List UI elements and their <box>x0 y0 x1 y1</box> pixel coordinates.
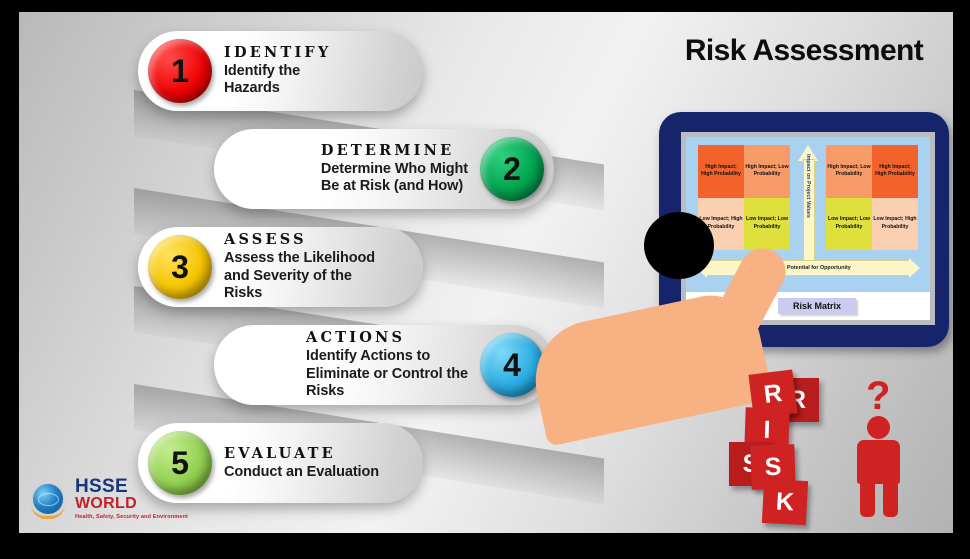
step-body-line: Identify the <box>224 63 331 81</box>
person-leg-right <box>883 479 898 517</box>
step-card-3[interactable]: 3 ASSESS Assess the Likelihood and Sever… <box>138 227 423 307</box>
step-number-3: 3 <box>171 249 189 286</box>
step-text-5: EVALUATE Conduct an Evaluation <box>212 445 391 481</box>
step-number-circle-4: 4 <box>480 333 544 397</box>
step-card-1[interactable]: 1 IDENTIFY Identify the Hazards <box>138 31 423 111</box>
step-number-circle-2: 2 <box>480 137 544 201</box>
step-heading-3: ASSESS <box>224 231 375 249</box>
infographic-frame: 1 IDENTIFY Identify the Hazards DETERMIN… <box>0 0 970 559</box>
matrix-cell: Low Impact; Low Probability <box>826 198 872 251</box>
step-body-line: Be at Risk (and How) <box>321 178 468 196</box>
cupped-hands-icon <box>31 504 65 519</box>
step-text-2: DETERMINE Determine Who Might Be at Risk… <box>309 142 480 196</box>
step-body-line: Risks <box>306 383 468 401</box>
risk-cubes-illustration: R R I S S K <box>745 370 823 510</box>
step-heading-2: DETERMINE <box>321 142 468 160</box>
step-text-3: ASSESS Assess the Likelihood and Severit… <box>212 231 387 303</box>
logo-tagline: Health, Safety, Security and Environment <box>75 515 188 521</box>
logo-line-hsse: HSSE <box>75 477 188 496</box>
step-number-circle-1: 1 <box>148 39 212 103</box>
step-heading-1: IDENTIFY <box>224 44 331 62</box>
matrix-cell: Low Impact; High Probability <box>872 198 918 251</box>
person-with-question-illustration: ? <box>851 378 907 500</box>
infographic-canvas: 1 IDENTIFY Identify the Hazards DETERMIN… <box>19 12 953 533</box>
step-text-4: ACTIONS Identify Actions to Eliminate or… <box>294 329 480 401</box>
step-card-4[interactable]: ACTIONS Identify Actions to Eliminate or… <box>214 325 554 405</box>
person-head <box>867 416 890 439</box>
step-body-4: Identify Actions to Eliminate or Control… <box>306 348 468 401</box>
question-mark-icon: ? <box>866 376 890 416</box>
step-body-line: and Severity of the <box>224 268 375 286</box>
step-card-2[interactable]: DETERMINE Determine Who Might Be at Risk… <box>214 129 554 209</box>
step-heading-5: EVALUATE <box>224 445 379 463</box>
matrix-cell: High Impact; High Probability <box>872 145 918 198</box>
step-body-1: Identify the Hazards <box>224 63 331 98</box>
step-body-line: Risks <box>224 285 375 303</box>
step-body-line: Determine Who Might <box>321 161 468 179</box>
step-text-1: IDENTIFY Identify the Hazards <box>212 44 343 98</box>
matrix-cell: High Impact; High Probability <box>698 145 744 198</box>
risk-cube: K <box>762 479 808 525</box>
step-body-5: Conduct an Evaluation <box>224 464 379 482</box>
step-body-3: Assess the Likelihood and Severity of th… <box>224 250 375 303</box>
step-body-line: Hazards <box>224 80 331 98</box>
step-number-5: 5 <box>171 445 189 482</box>
step-number-circle-3: 3 <box>148 235 212 299</box>
step-body-line: Eliminate or Control the <box>306 366 468 384</box>
hand-palm <box>525 286 774 446</box>
step-body-2: Determine Who Might Be at Risk (and How) <box>321 161 468 196</box>
step-body-line: Identify Actions to <box>306 348 468 366</box>
step-number-4: 4 <box>503 347 521 384</box>
vertical-axis-label: Impact on Project Values <box>805 154 811 218</box>
logo-text: HSSE WORLD Health, Safety, Security and … <box>75 477 188 521</box>
globe-icon <box>33 484 63 514</box>
risk-matrix-grid-right: High Impact; Low Probability High Impact… <box>826 145 918 250</box>
hsse-world-logo[interactable]: HSSE WORLD Health, Safety, Security and … <box>33 473 163 525</box>
matrix-cell: High Impact; Low Probability <box>744 145 790 198</box>
step-body-line: Conduct an Evaluation <box>224 464 379 482</box>
page-title: Risk Assessment <box>659 34 949 68</box>
step-number-2: 2 <box>503 151 521 188</box>
step-number-1: 1 <box>171 53 189 90</box>
step-heading-4: ACTIONS <box>306 329 468 347</box>
person-torso <box>857 440 900 484</box>
matrix-cell: High Impact; Low Probability <box>826 145 872 198</box>
step-body-line: Assess the Likelihood <box>224 250 375 268</box>
arrow-head-right-icon <box>909 258 920 278</box>
logo-line-world: WORLD <box>75 496 188 512</box>
person-leg-left <box>860 479 875 517</box>
